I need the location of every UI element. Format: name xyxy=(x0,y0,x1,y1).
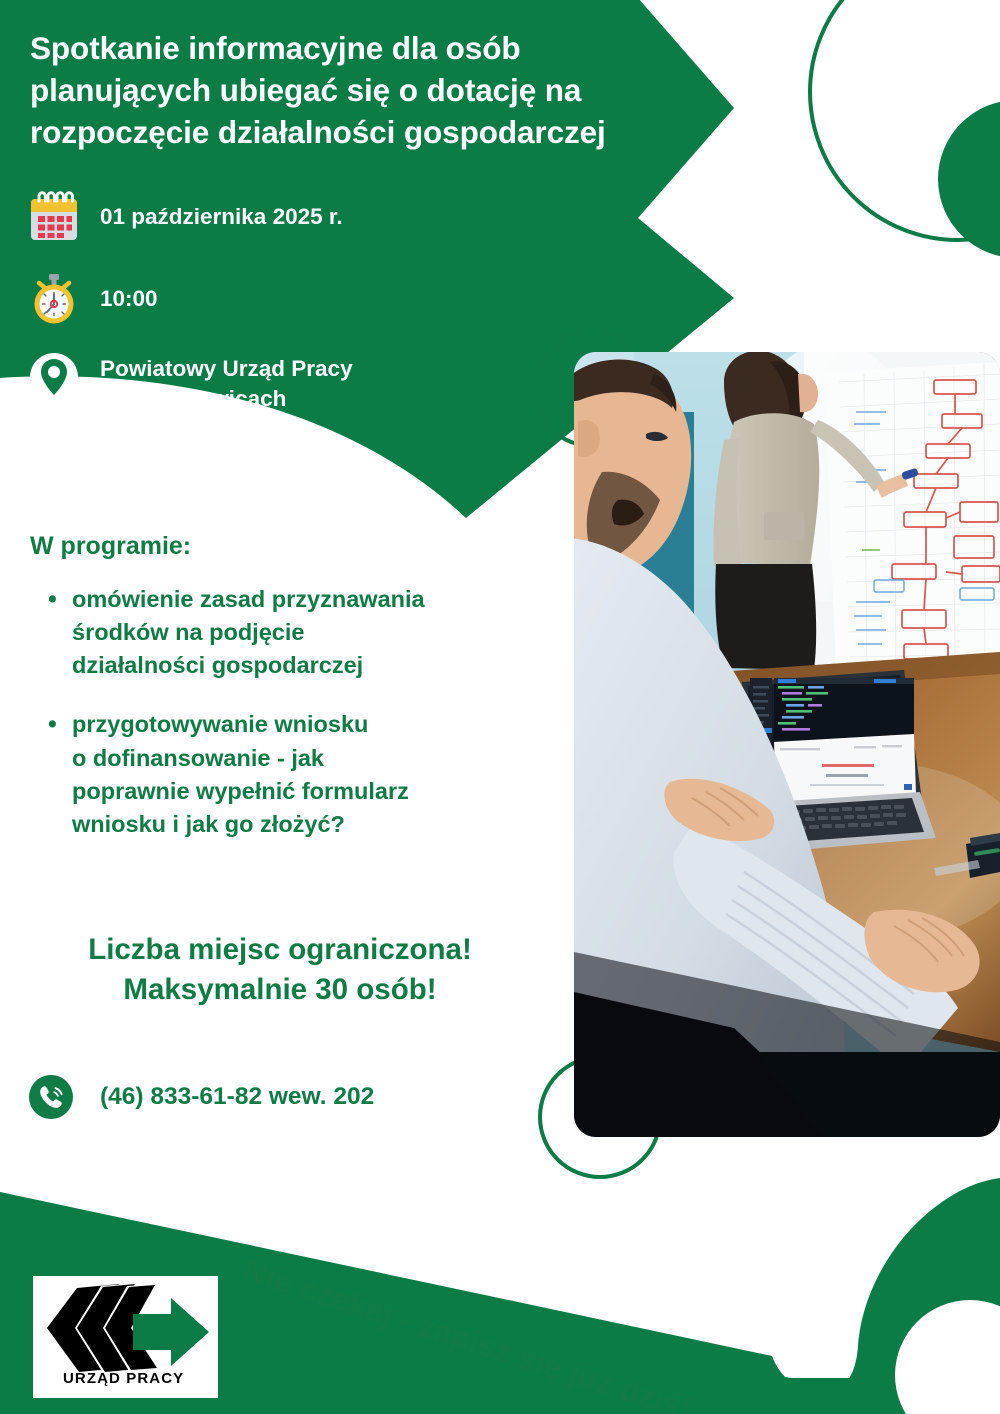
phone-number[interactable]: (46) 833-61-82 wew. 202 xyxy=(100,1083,374,1111)
stopwatch-icon xyxy=(28,272,80,326)
detail-date-label: 01 października 2025 r. xyxy=(100,202,343,232)
detail-row-date: 01 października 2025 r. xyxy=(28,190,343,244)
programme-list: omówienie zasad przyznawania środków na … xyxy=(42,583,572,867)
logo-wordmark: URZĄD PRACY xyxy=(63,1370,184,1387)
list-item: przygotowywanie wniosku o dofinansowanie… xyxy=(72,708,572,841)
seats-limit-note: Liczba miejsc ograniczona! Maksymalnie 3… xyxy=(0,930,560,1011)
detail-location-label: Powiatowy Urząd Pracy w Skierniewicach xyxy=(100,350,353,413)
programme-heading: W programie: xyxy=(30,532,191,561)
page-title: Spotkanie informacyjne dla osób planując… xyxy=(30,28,670,154)
meeting-photo xyxy=(574,352,1000,1137)
poster-root: Spotkanie informacyjne dla osób planując… xyxy=(0,0,1000,1414)
decorative-circle-top-right xyxy=(938,100,1000,258)
decorative-ring-top-right xyxy=(808,0,1000,242)
phone-icon xyxy=(28,1074,74,1120)
list-item: omówienie zasad przyznawania środków na … xyxy=(72,583,572,682)
calendar-icon xyxy=(28,190,80,244)
detail-row-time: 10:00 xyxy=(28,272,158,326)
detail-time-label: 10:00 xyxy=(100,284,158,314)
location-pin-icon xyxy=(28,350,80,404)
urzad-pracy-logo: URZĄD PRACY xyxy=(33,1276,218,1398)
detail-row-location: Powiatowy Urząd Pracy w Skierniewicach xyxy=(28,350,353,413)
contact-row[interactable]: (46) 833-61-82 wew. 202 xyxy=(28,1074,374,1120)
